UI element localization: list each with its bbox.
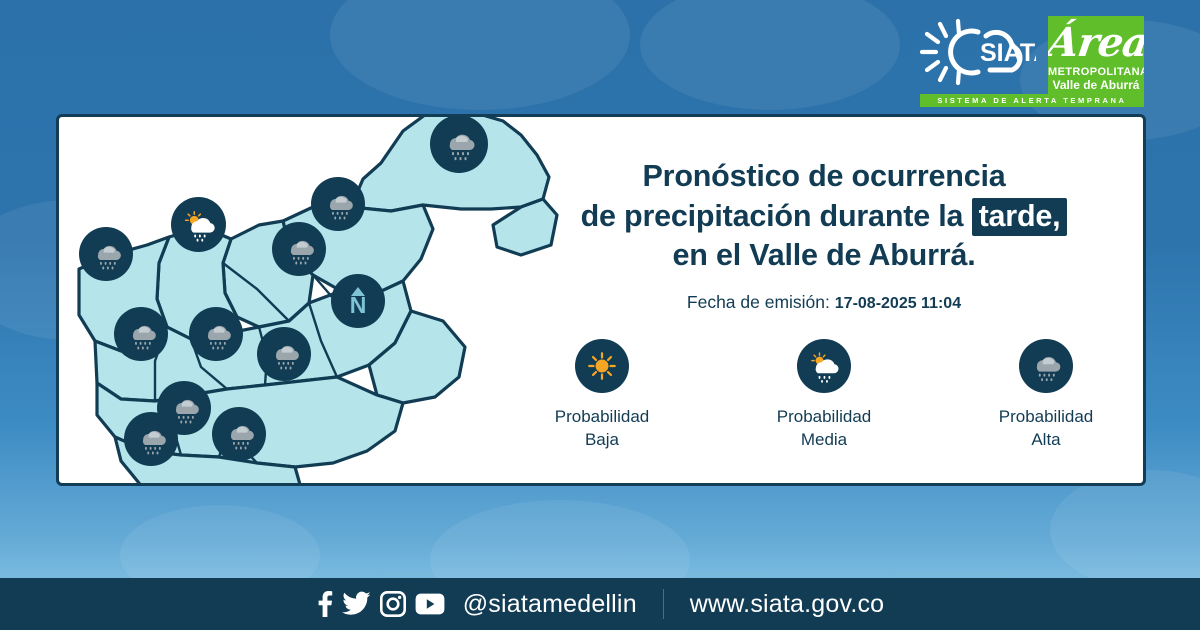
cloud-rain-icon [266, 336, 303, 373]
probability-legend: Probabilidad Baja [519, 339, 1129, 452]
legend-icon-wrap [575, 339, 629, 393]
social-handle[interactable]: @siatamedellin [463, 590, 637, 619]
legend-item-baja: Probabilidad Baja [527, 339, 677, 452]
infographic-root: SIATA Área METROPOLITANA Valle de Aburrá… [0, 0, 1200, 630]
title-line-1: Pronóstico de ocurrencia [519, 157, 1129, 197]
footer-divider [663, 589, 664, 619]
title-line-3: en el Valle de Aburrá. [519, 236, 1129, 276]
legend-item-media: Probabilidad Media [749, 339, 899, 452]
legend-label-line2: Alta [999, 429, 1094, 452]
area-logo-line2: Valle de Aburrá [1048, 78, 1144, 92]
weather-pin [212, 407, 266, 461]
cloud-blob [640, 0, 900, 110]
legend-item-alta: Probabilidad Alta [971, 339, 1121, 452]
weather-pin [124, 412, 178, 466]
facebook-icon[interactable] [316, 590, 333, 618]
social-icons [316, 590, 445, 618]
content-card: N Pronóstico de ocurrencia de precipitac… [56, 114, 1146, 486]
weather-pin [171, 197, 226, 252]
page-title: Pronóstico de ocurrencia de precipitació… [519, 157, 1129, 276]
aburra-valley-map: N [56, 114, 571, 486]
legend-label-line1: Probabilidad [999, 406, 1094, 429]
header-logos: SIATA Área METROPOLITANA Valle de Aburrá [908, 16, 1144, 94]
weather-pin [311, 177, 365, 231]
legend-label-line1: Probabilidad [555, 406, 650, 429]
weather-pin [257, 327, 311, 381]
green-tagline-bar: SISTEMA DE ALERTA TEMPRANA [920, 94, 1144, 107]
cloud-rain-icon [439, 124, 479, 164]
footer-bar: @siatamedellin www.siata.gov.co [0, 578, 1200, 630]
cloud-rain-icon [133, 421, 170, 458]
emission-date-label: Fecha de emisión: [687, 292, 830, 312]
area-logo-line1: METROPOLITANA [1048, 66, 1144, 78]
sun-cloud-rain-icon [180, 206, 218, 244]
legend-label-media: Probabilidad Media [777, 406, 872, 452]
legend-label-line2: Media [777, 429, 872, 452]
title-line-2: de precipitación durante la tarde, [519, 197, 1129, 237]
legend-icon-wrap [1019, 339, 1073, 393]
siata-logo-icon: SIATA [908, 16, 1036, 88]
instagram-icon[interactable] [380, 591, 406, 617]
legend-label-line2: Baja [555, 429, 650, 452]
weather-pin [272, 222, 326, 276]
legend-label-alta: Probabilidad Alta [999, 406, 1094, 452]
siata-logo: SIATA [908, 16, 1036, 88]
svg-text:SIATA: SIATA [980, 39, 1036, 67]
legend-icon-wrap [797, 339, 851, 393]
area-metropolitana-logo: Área METROPOLITANA Valle de Aburrá [1048, 16, 1144, 94]
compass-rose: N [331, 274, 385, 328]
twitter-icon[interactable] [342, 591, 371, 617]
title-highlight-tarde: tarde, [972, 198, 1068, 236]
cloud-rain-icon [1028, 348, 1064, 384]
weather-pin [79, 227, 133, 281]
sun-icon [585, 349, 619, 383]
emission-date-value: 17-08-2025 11:04 [835, 295, 961, 312]
cloud-rain-icon [123, 316, 160, 353]
compass-label: N [350, 294, 367, 316]
youtube-icon[interactable] [415, 593, 445, 615]
cloud-blob [1050, 470, 1200, 590]
cloud-rain-icon [221, 416, 258, 453]
cloud-rain-icon [198, 316, 235, 353]
sun-cloud-rain-icon [806, 348, 842, 384]
weather-pin [430, 115, 488, 173]
cloud-rain-icon [281, 231, 318, 268]
forecast-text-block: Pronóstico de ocurrencia de precipitació… [519, 157, 1129, 452]
website-url[interactable]: www.siata.gov.co [690, 590, 884, 619]
cloud-blob [330, 0, 630, 110]
legend-label-baja: Probabilidad Baja [555, 406, 650, 452]
weather-pin [189, 307, 243, 361]
cloud-rain-icon [88, 236, 125, 273]
cloud-rain-icon [320, 186, 357, 223]
emission-date: Fecha de emisión: 17-08-2025 11:04 [519, 292, 1129, 313]
weather-pin [114, 307, 168, 361]
area-logo-script: Área [1048, 19, 1144, 66]
legend-label-line1: Probabilidad [777, 406, 872, 429]
title-line-2-text: de precipitación durante la [581, 199, 972, 233]
